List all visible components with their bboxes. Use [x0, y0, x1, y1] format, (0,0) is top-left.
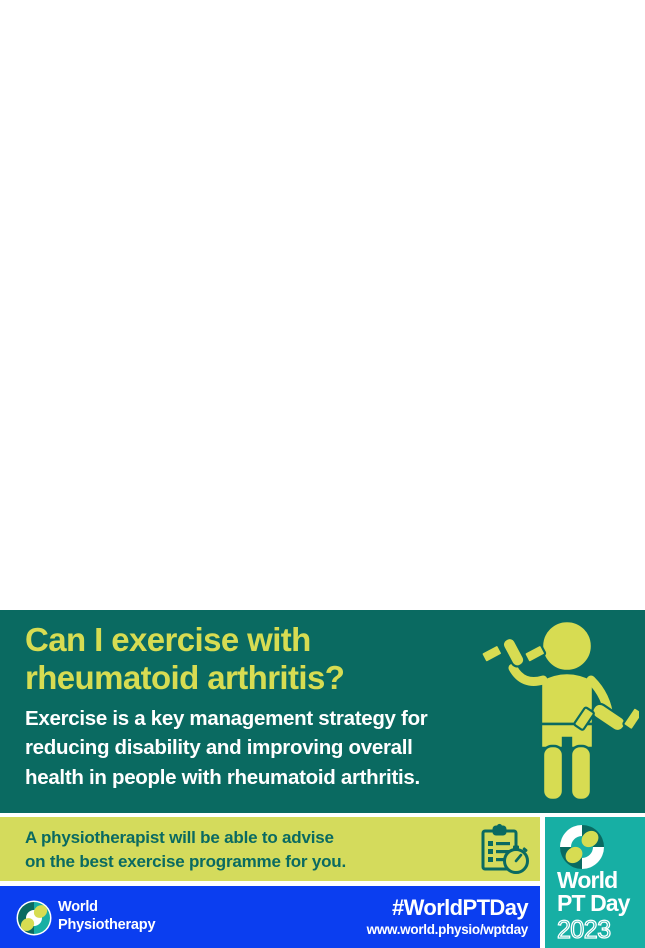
world-pt-day-logo — [559, 824, 605, 870]
page-title-line-2: rheumatoid arthritis? — [25, 659, 505, 697]
brand-line-2: Physiotherapy — [58, 917, 155, 935]
world-physiotherapy-wordmark: World Physiotherapy — [58, 899, 155, 934]
hashtag-block: #WorldPTDay www.world.physio/wptday — [367, 896, 528, 938]
hero-text-block: Can I exercise with rheumatoid arthritis… — [25, 621, 505, 793]
hero-body-line-1: Exercise is a key management strategy fo… — [25, 704, 505, 734]
hero-panel: Can I exercise with rheumatoid arthritis… — [0, 610, 645, 813]
hero-body-line-2: reducing disability and improving overal… — [25, 733, 505, 763]
advice-text-line-2: on the best exercise programme for you. — [25, 850, 465, 874]
person-lifting-dumbbells-icon — [479, 618, 639, 808]
badge-year: 2023 — [557, 917, 630, 945]
advice-band: A physiotherapist will be able to advise… — [0, 817, 540, 881]
brand-line-1: World — [58, 899, 155, 917]
advice-text: A physiotherapist will be able to advise… — [25, 826, 465, 874]
badge-line-1: World — [557, 869, 630, 892]
hashtag-label: #WorldPTDay — [367, 896, 528, 920]
website-url-label[interactable]: www.world.physio/wptday — [367, 922, 528, 938]
world-physiotherapy-logo — [16, 900, 52, 936]
hero-body-line-3: health in people with rheumatoid arthrit… — [25, 763, 505, 793]
world-pt-day-lockup: World PT Day 2023 — [557, 869, 630, 944]
blank-canvas-area — [0, 0, 645, 610]
world-pt-day-badge: World PT Day 2023 — [545, 817, 645, 948]
footer-bar: World Physiotherapy #WorldPTDay www.worl… — [0, 886, 540, 948]
clipboard-stopwatch-icon — [478, 823, 532, 875]
badge-line-2: PT Day — [557, 892, 630, 915]
page-title-line-1: Can I exercise with — [25, 621, 505, 659]
advice-text-line-1: A physiotherapist will be able to advise — [25, 826, 465, 850]
